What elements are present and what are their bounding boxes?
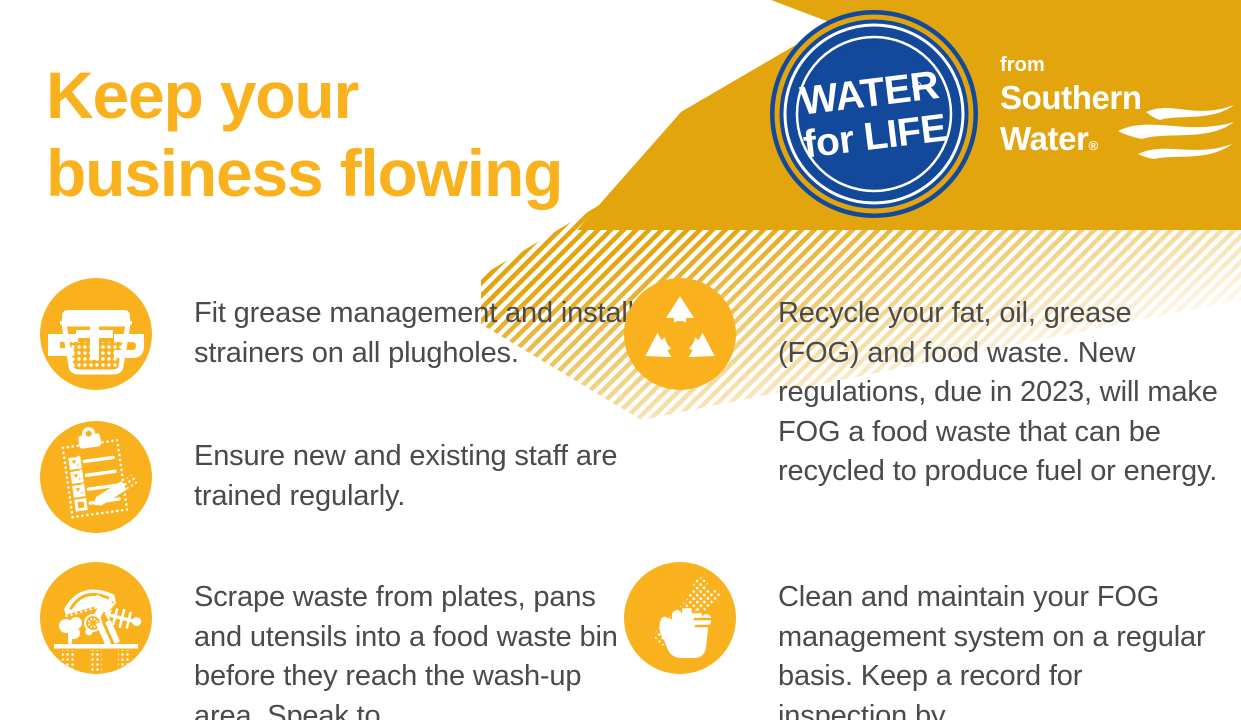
wrench-hand-icon	[624, 562, 736, 674]
tip-text: Scrape waste from plates, pans and utens…	[194, 562, 634, 720]
headline-line-2: business flowing	[46, 134, 686, 212]
from-label: from	[1000, 54, 1228, 76]
tip-text: Fit grease management and install strain…	[194, 278, 634, 390]
company-name-line-2: Water	[1000, 120, 1088, 157]
grease-trap-icon	[40, 278, 152, 390]
tip-item: Ensure new and existing staff are traine…	[40, 421, 640, 533]
page-title: Keep your business flowing	[46, 56, 686, 212]
tip-text: Clean and maintain your FOG management s…	[778, 562, 1218, 720]
tip-text: Ensure new and existing staff are traine…	[194, 421, 634, 533]
recycle-icon	[624, 278, 736, 390]
tips-column-left: Fit grease management and install strain…	[40, 272, 640, 720]
clipboard-checklist-icon	[40, 421, 152, 533]
company-registered-mark: ®	[1088, 138, 1097, 153]
logo-lockup[interactable]: WATER ® for LIFE from Southern Water®	[768, 8, 1228, 220]
poster-canvas: Keep your business flowing WATER ® for L…	[0, 0, 1241, 720]
tip-item: Clean and maintain your FOG management s…	[624, 562, 1224, 720]
southern-water-wordmark[interactable]: from Southern Water®	[1000, 54, 1228, 168]
wave-icon	[1116, 98, 1236, 160]
tips-column-right: Recycle your fat, oil, grease (FOG) and …	[624, 272, 1224, 720]
tip-item: Fit grease management and install strain…	[40, 278, 640, 390]
tip-item: Recycle your fat, oil, grease (FOG) and …	[624, 278, 1224, 492]
headline-line-1: Keep your	[46, 56, 686, 134]
tip-text: Recycle your fat, oil, grease (FOG) and …	[778, 278, 1218, 492]
water-for-life-badge[interactable]: WATER ® for LIFE	[768, 8, 980, 220]
tip-item: Scrape waste from plates, pans and utens…	[40, 562, 640, 720]
tips-section: Fit grease management and install strain…	[0, 272, 1241, 720]
scrape-plate-icon	[40, 562, 152, 674]
